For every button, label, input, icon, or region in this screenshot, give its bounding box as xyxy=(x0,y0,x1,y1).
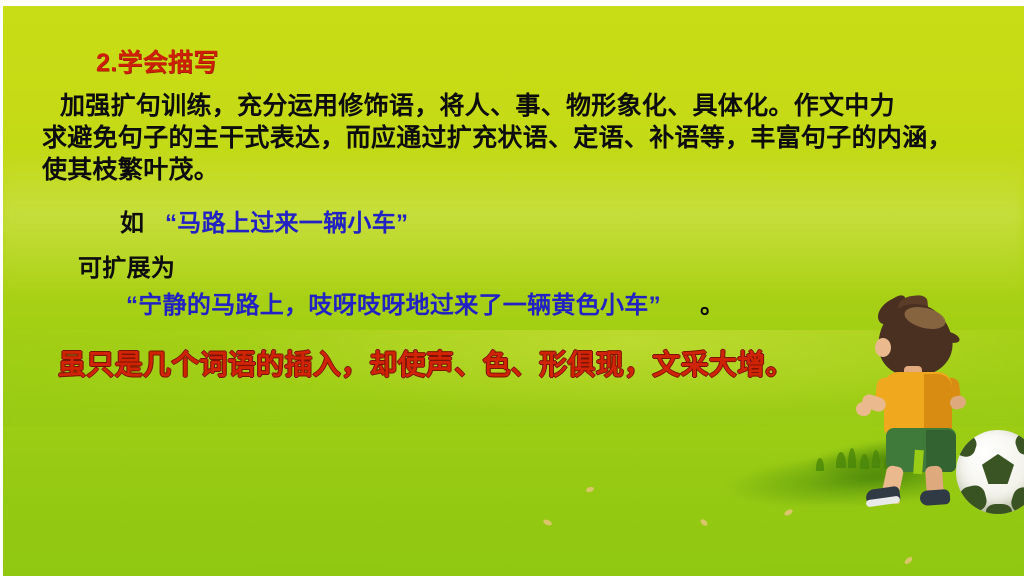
example-lead-label: 如 xyxy=(120,203,144,238)
body-paragraph-line-2: 求避免句子的主干式表达，而应通过扩充状语、定语、补语等，丰富句子的内涵， xyxy=(42,118,953,154)
section-title: 2.学会描写 xyxy=(96,43,219,79)
shorts-leg-gap xyxy=(913,450,924,475)
boy-with-soccer-ball-illustration xyxy=(852,300,1024,490)
expanded-sentence-period: 。 xyxy=(700,285,724,320)
hand-left xyxy=(856,402,871,416)
conclusion-text: 虽只是几个词语的插入，却使声、色、形俱现，文采大增。 xyxy=(58,343,794,383)
slide-canvas: 2.学会描写 加强扩句训练，充分运用修饰语，将人、事、物形象化、具体化。作文中力… xyxy=(0,0,1024,576)
expand-lead-label: 可扩展为 xyxy=(78,248,175,283)
slide-top-edge xyxy=(0,0,1024,6)
body-paragraph-line-1: 加强扩句训练，充分运用修饰语，将人、事、物形象化、具体化。作文中力 xyxy=(60,86,895,122)
example-sentence: “马路上过来一辆小车” xyxy=(165,203,408,238)
slide-left-edge xyxy=(0,0,3,576)
expanded-sentence: “宁静的马路上，吱呀吱呀地过来了一辆黄色小车” xyxy=(126,285,661,320)
body-paragraph-line-3: 使其枝繁叶茂。 xyxy=(42,150,219,186)
shoe-right xyxy=(920,489,951,506)
tshirt-shading xyxy=(924,374,952,436)
ear xyxy=(875,338,891,357)
